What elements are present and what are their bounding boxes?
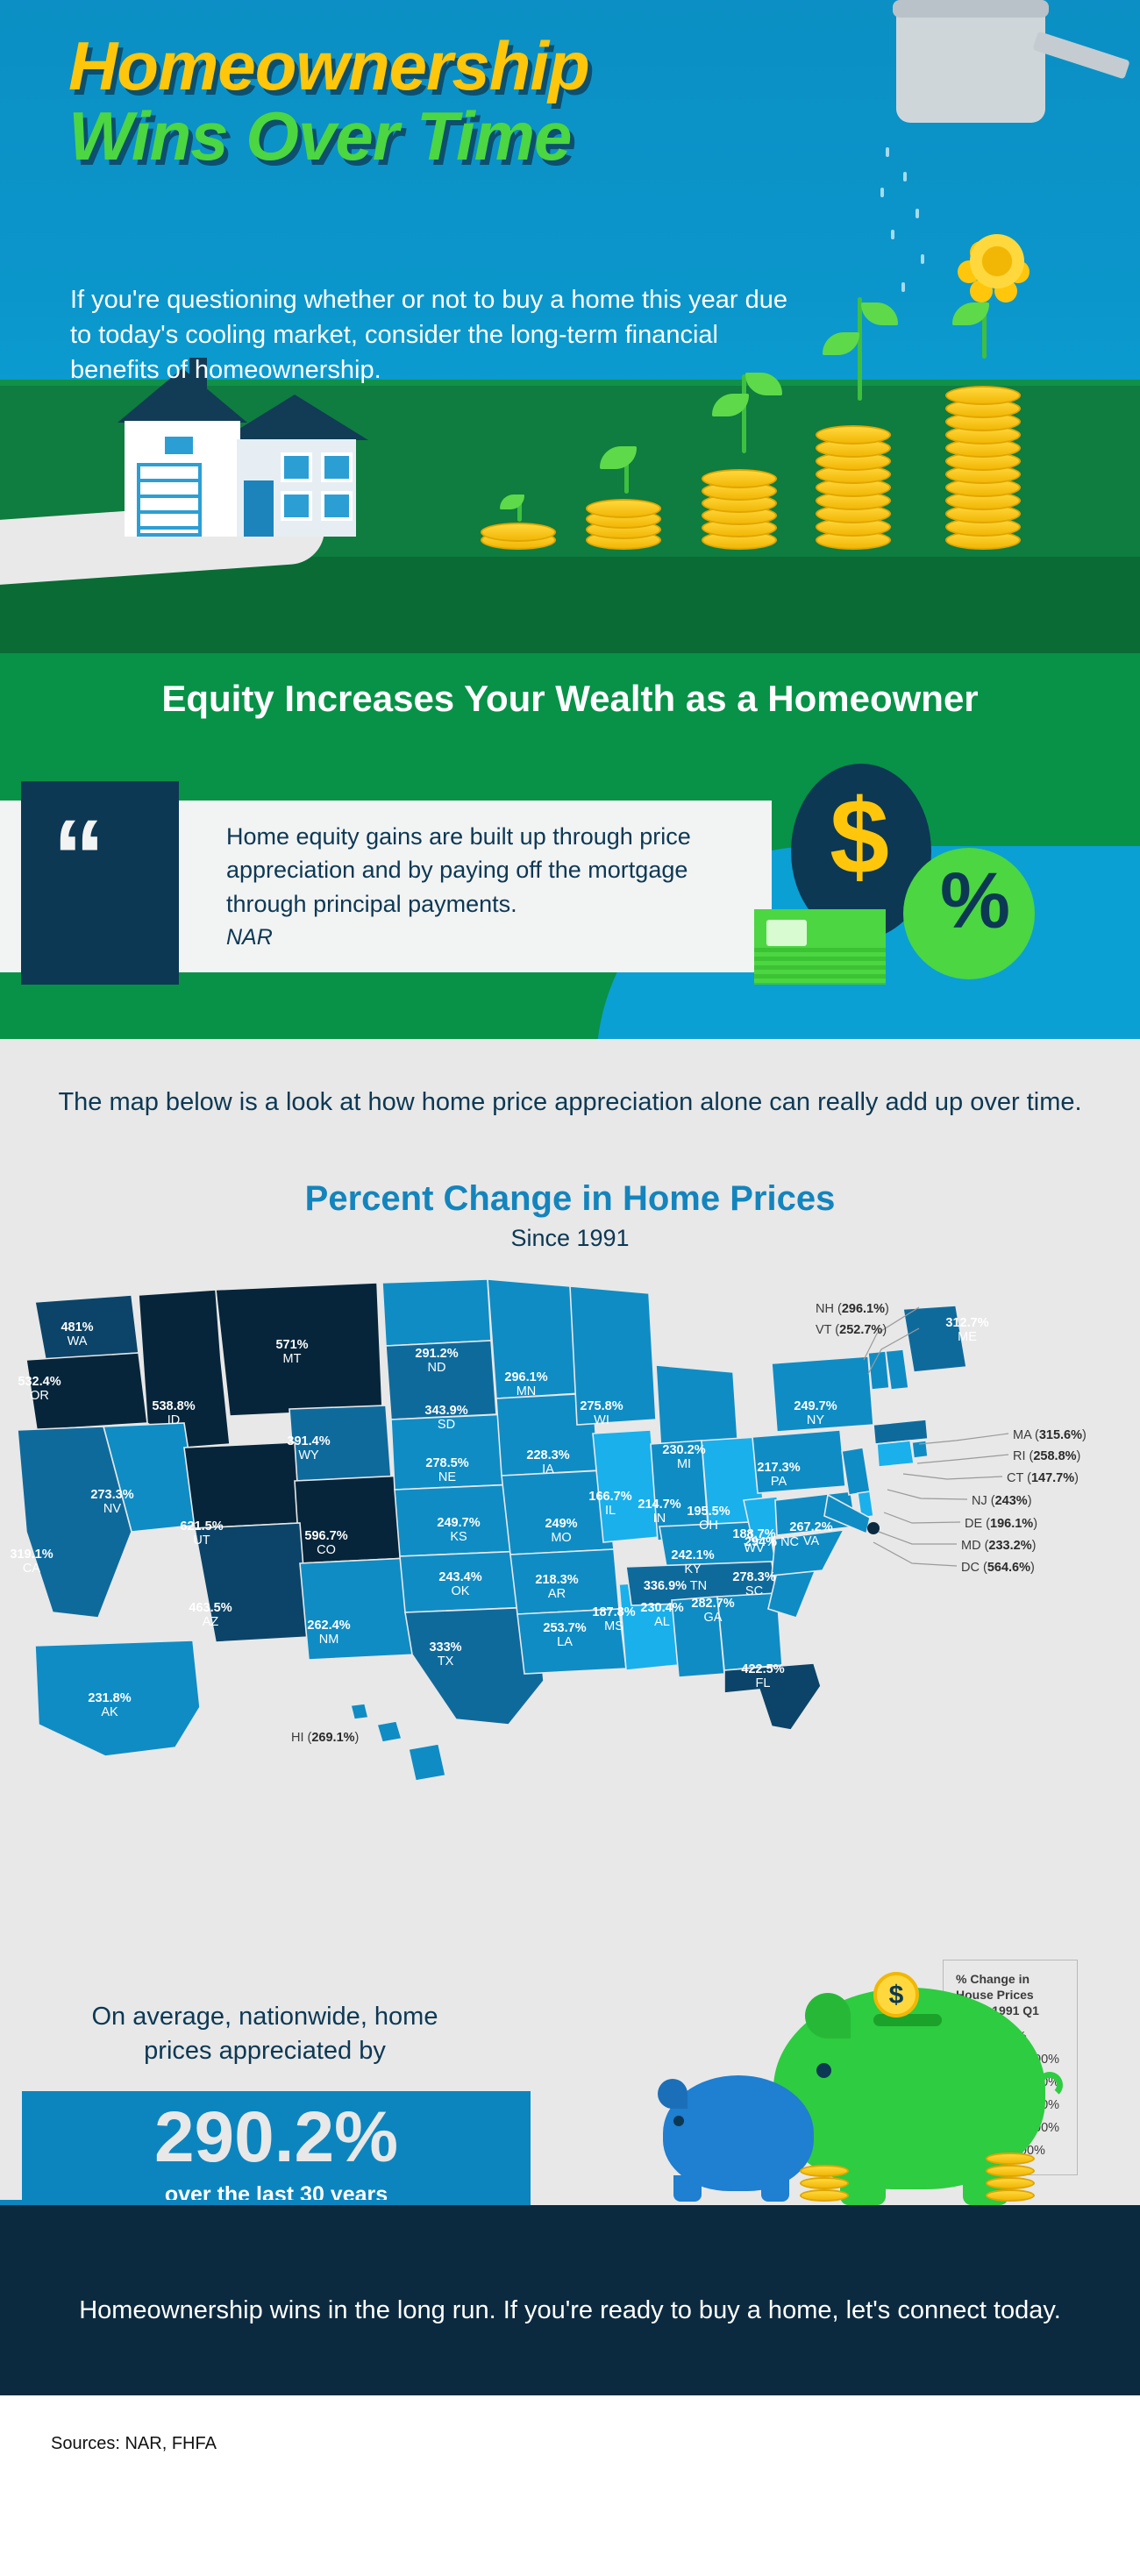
- water-drop-icon: [880, 188, 884, 197]
- coin-stack-2: [586, 494, 661, 550]
- footer-section: Homeownership wins in the long run. If y…: [0, 2205, 1140, 2486]
- map-state-wi[interactable]: [570, 1286, 656, 1425]
- coin-icon: [586, 499, 661, 518]
- footer-cta-text: Homeownership wins in the long run. If y…: [0, 2293, 1140, 2330]
- coin-icon: [800, 2177, 849, 2189]
- map-callout-de: DE (196.1%): [965, 1517, 1037, 1531]
- map-state-vt[interactable]: [868, 1351, 889, 1390]
- map-state-nj[interactable]: [842, 1448, 870, 1495]
- map-state-al[interactable]: [672, 1597, 724, 1677]
- map-state-ct[interactable]: [877, 1441, 914, 1467]
- equity-heading: Equity Increases Your Wealth as a Homeow…: [0, 678, 1140, 720]
- title-line-2: Wins Over Time: [68, 102, 589, 172]
- window-icon: [321, 452, 353, 482]
- coin-icon: [986, 2189, 1035, 2202]
- water-drop-icon: [921, 254, 924, 264]
- coin-icon: [816, 425, 891, 445]
- watering-can-body: [896, 9, 1045, 123]
- map-callout-md: MD (233.2%): [961, 1539, 1036, 1553]
- map-state-nd[interactable]: [382, 1279, 491, 1346]
- water-drop-icon: [901, 282, 905, 292]
- map-callout-ct: CT (147.7%): [1007, 1471, 1079, 1485]
- coin-icon: [986, 2165, 1035, 2177]
- map-callout-nh: NH (296.1%): [816, 1302, 889, 1316]
- map-state-az[interactable]: [195, 1523, 309, 1642]
- coin-icon: [986, 2153, 1035, 2165]
- map-callout-dc: DC (564.6%): [961, 1561, 1035, 1575]
- map-state-wy[interactable]: [289, 1405, 391, 1481]
- coin-icon: [800, 2165, 849, 2177]
- map-state-pa[interactable]: [752, 1430, 845, 1493]
- coin-icon: [481, 523, 556, 542]
- map-state-ne[interactable]: [391, 1414, 512, 1490]
- equity-section: Equity Increases Your Wealth as a Homeow…: [0, 653, 1140, 1039]
- dropping-coin-icon: $: [873, 1972, 919, 2017]
- map-section: The map below is a look at how home pric…: [0, 1039, 1140, 2205]
- piggy-bank-slot: [873, 2014, 942, 2026]
- map-callout-vt: VT (252.7%): [816, 1323, 887, 1337]
- quote-attribution: NAR: [226, 925, 273, 950]
- map-state-wa[interactable]: [35, 1295, 139, 1360]
- map-state-mt[interactable]: [216, 1283, 382, 1416]
- quote-text: Home equity gains are built up through p…: [226, 820, 752, 921]
- coin-stack-5: [945, 357, 1021, 550]
- garage-door: [137, 463, 202, 537]
- water-drop-icon: [891, 230, 894, 239]
- window-icon: [321, 491, 353, 521]
- average-lead-text: On average, nationwide, home prices appr…: [54, 2000, 475, 2069]
- map-state-hi[interactable]: [351, 1704, 445, 1781]
- sprout-icon: [614, 448, 658, 494]
- page-title: Homeownership Wins Over Time: [68, 33, 589, 171]
- average-stat-value: 290.2%: [22, 2102, 531, 2174]
- window-icon: [161, 433, 196, 458]
- map-state-ny[interactable]: [772, 1356, 873, 1432]
- piggy-bank-ear: [658, 2079, 688, 2109]
- coin-icon: [945, 386, 1021, 405]
- map-intro-text: The map below is a look at how home pric…: [0, 1085, 1140, 1120]
- percent-sign-icon: %: [940, 862, 1010, 941]
- map-callout-nj: NJ (243%): [972, 1494, 1032, 1508]
- water-drop-icon: [903, 172, 907, 181]
- roof-right: [221, 395, 368, 440]
- map-svg: [0, 1269, 1140, 1935]
- map-state-nm[interactable]: [300, 1558, 416, 1660]
- footer-accent-bar: [0, 2200, 526, 2205]
- dc-marker-icon: [867, 1522, 880, 1534]
- title-line-1: Homeownership: [68, 33, 589, 100]
- coin-icon: [800, 2189, 849, 2202]
- front-door: [244, 480, 274, 537]
- bill-stack-lines: [754, 948, 886, 985]
- coin-stack-1: [481, 523, 556, 550]
- coin-stack-4: [816, 399, 891, 550]
- piggy-bank-eye: [816, 2063, 831, 2078]
- piggy-bank-ear: [805, 1993, 851, 2039]
- map-state-la[interactable]: [517, 1609, 626, 1674]
- dollar-sign-icon: $: [830, 783, 889, 890]
- map-title: Percent Change in Home Prices: [0, 1179, 1140, 1219]
- map-state-mn[interactable]: [488, 1279, 581, 1398]
- map-state-ma[interactable]: [873, 1420, 928, 1444]
- watering-can-lid: [893, 0, 1049, 18]
- map-state-sd[interactable]: [386, 1341, 496, 1420]
- map-state-nc[interactable]: [772, 1530, 844, 1576]
- sources-text: Sources: NAR, FHFA: [51, 2434, 217, 2454]
- hero-subtitle: If you're questioning whether or not to …: [70, 282, 789, 388]
- coin-icon: [986, 2177, 1035, 2189]
- window-icon: [281, 491, 312, 521]
- us-choropleth-map: 481%WA532.4%OR571%MT538.8%ID391.4%WY273.…: [0, 1269, 1140, 1935]
- map-state-il[interactable]: [593, 1430, 659, 1542]
- map-callout-ma: MA (315.6%): [1013, 1428, 1087, 1442]
- water-drop-icon: [886, 147, 889, 157]
- hero-section: Homeownership Wins Over Time If you're q…: [0, 0, 1140, 653]
- sprout-icon: [844, 297, 907, 401]
- piggy-bank-eye: [673, 2116, 684, 2126]
- map-callout-hi: HI (269.1%): [291, 1731, 359, 1745]
- sources-bar: Sources: NAR, FHFA: [0, 2395, 1140, 2486]
- map-callout-ri: RI (258.8%): [1013, 1449, 1080, 1463]
- map-state-ar[interactable]: [510, 1549, 619, 1614]
- map-state-ak[interactable]: [35, 1640, 200, 1756]
- map-subtitle: Since 1991: [0, 1225, 1140, 1252]
- map-state-fl[interactable]: [724, 1663, 821, 1730]
- map-state-me[interactable]: [903, 1306, 966, 1372]
- map-state-co[interactable]: [295, 1476, 409, 1563]
- sprout-icon: [510, 499, 545, 522]
- money-bill-icon: [754, 909, 886, 985]
- quote-mark-icon: “: [53, 825, 109, 888]
- flower-icon: [958, 239, 1054, 359]
- water-drop-icon: [916, 209, 919, 218]
- map-state-or[interactable]: [26, 1353, 147, 1430]
- coin-stack-3: [702, 452, 777, 550]
- map-state-ut[interactable]: [184, 1442, 300, 1528]
- coin-icon: [702, 469, 777, 488]
- watering-can-spout: [1032, 32, 1129, 80]
- window-icon: [281, 452, 312, 482]
